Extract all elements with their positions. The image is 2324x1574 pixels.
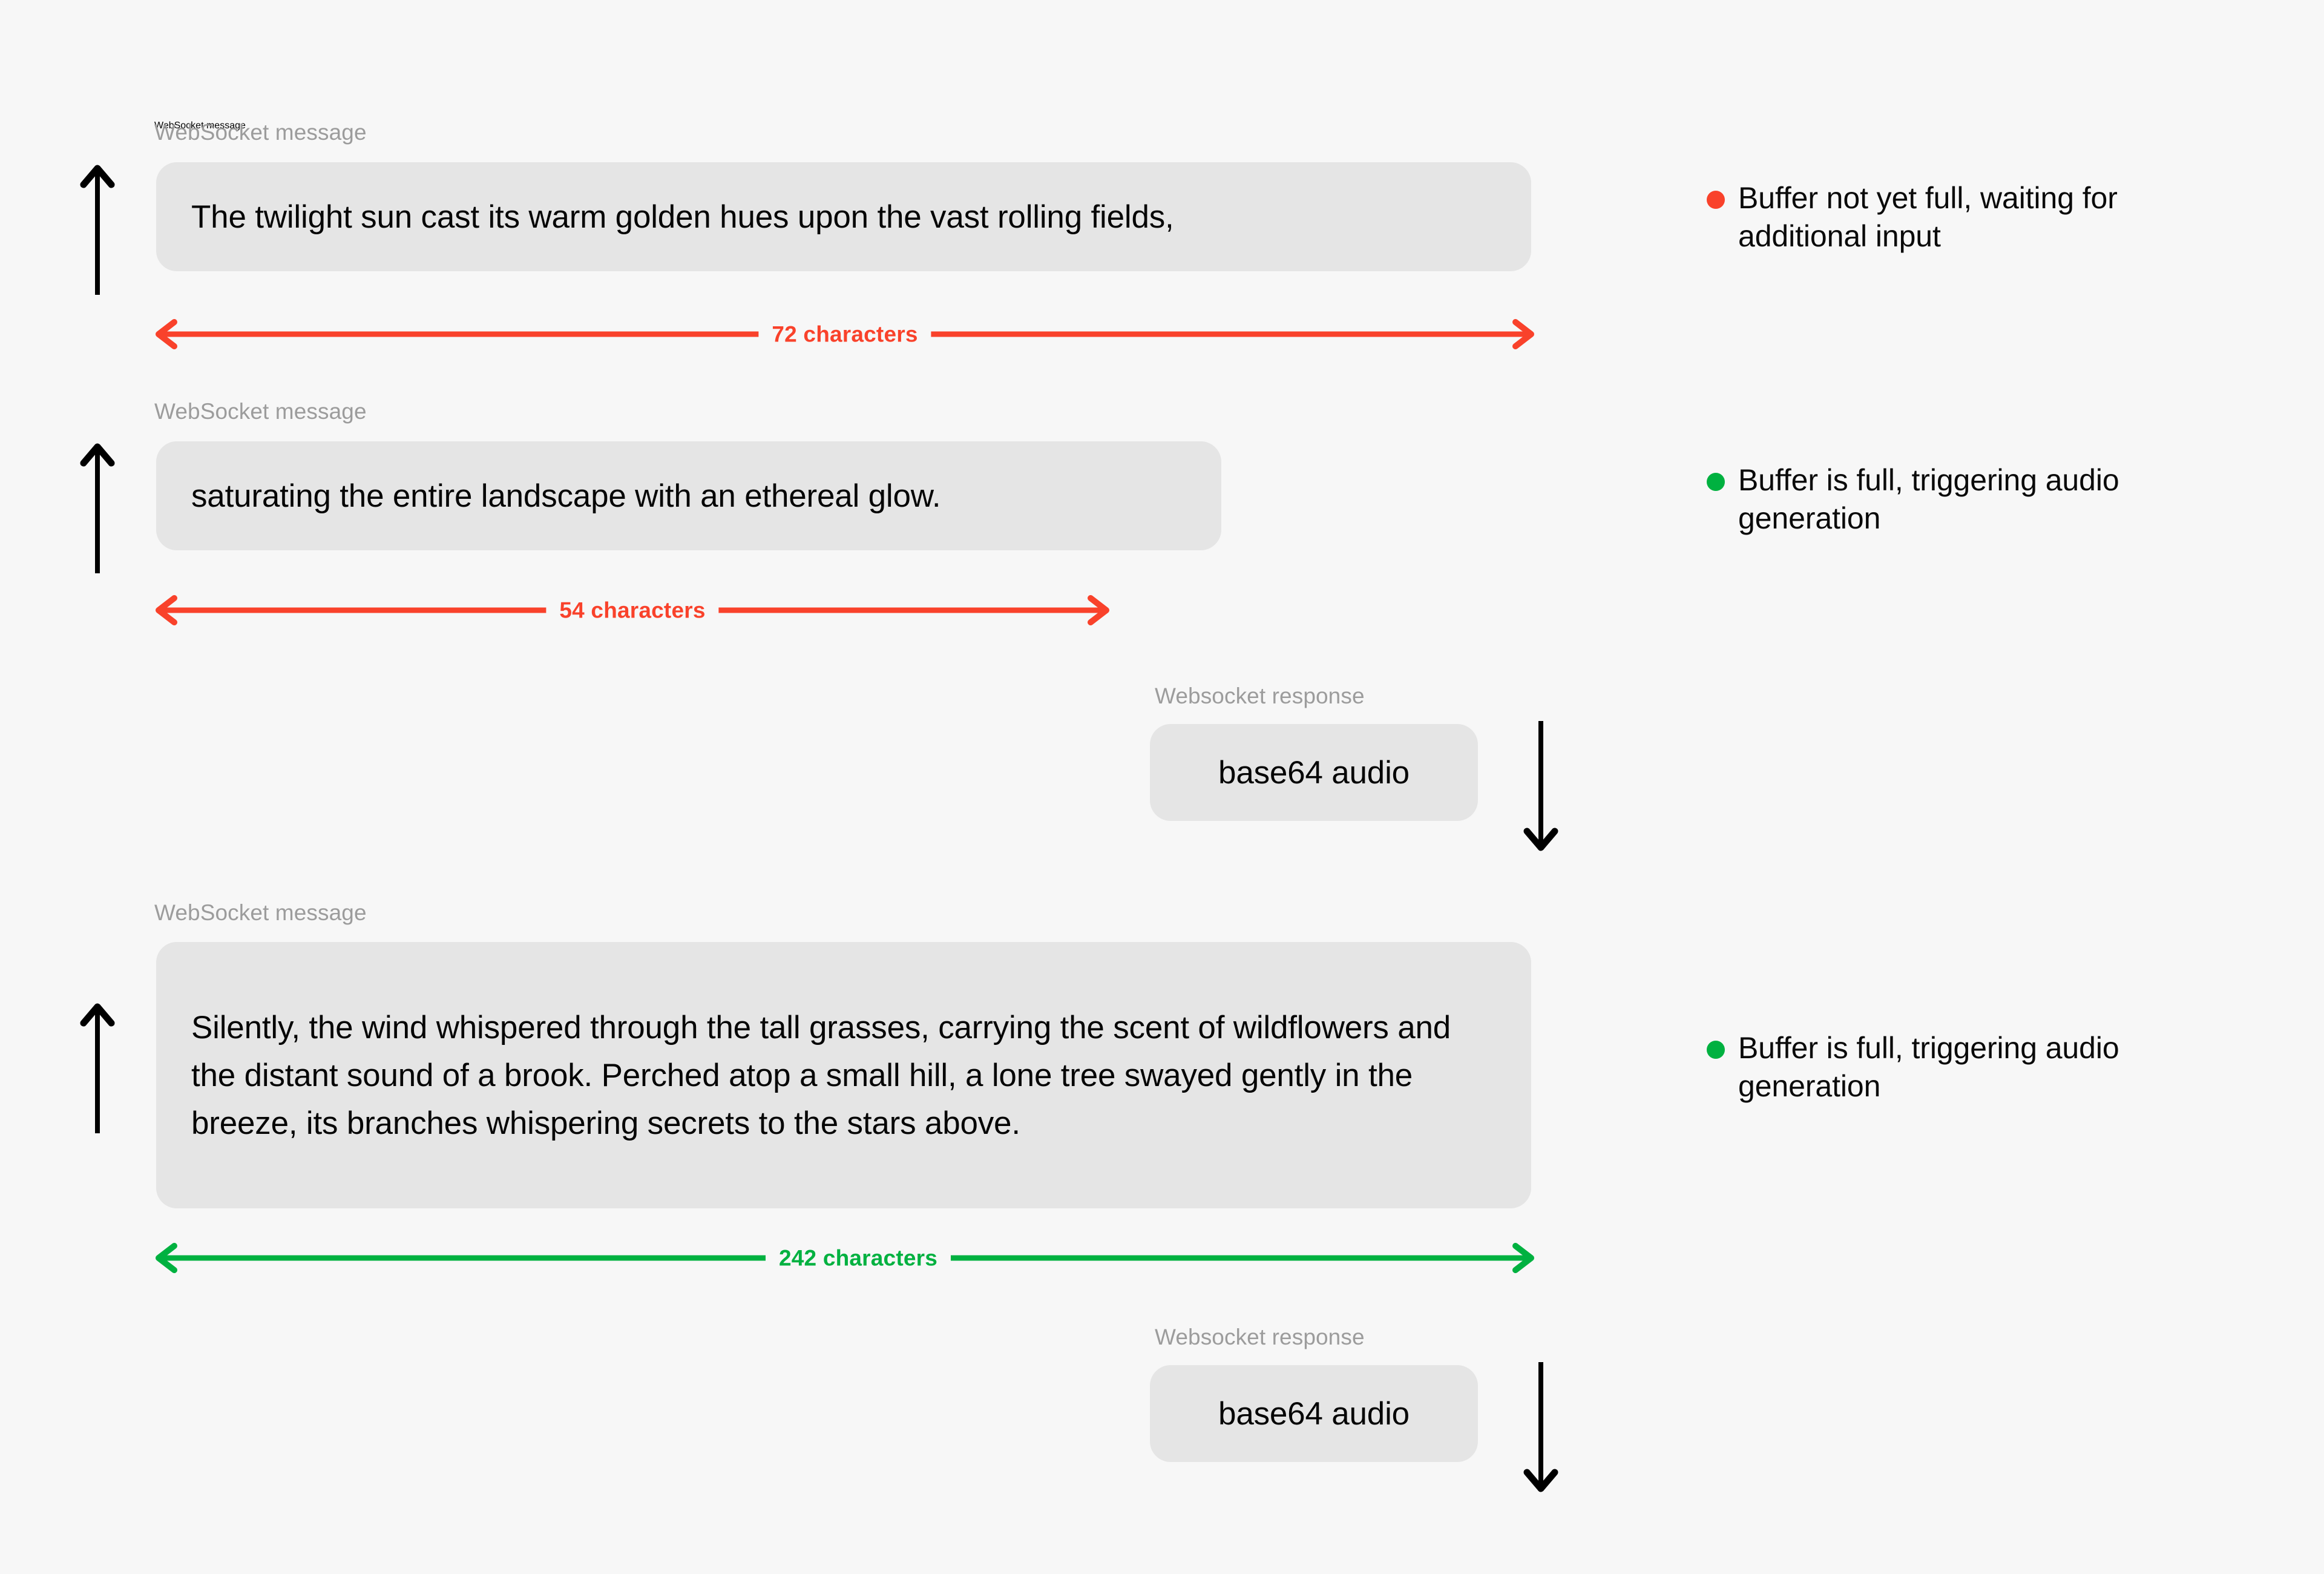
message-bubble-1: The twilight sun cast its warm golden hu… — [156, 162, 1531, 271]
response-text-2: base64 audio — [1218, 1390, 1410, 1438]
caption-websocket-message-3: WebSocket message — [154, 901, 367, 926]
arrow-up-icon-2 — [79, 439, 116, 575]
response-bubble-2: base64 audio — [1150, 1365, 1478, 1462]
response-text-1: base64 audio — [1218, 749, 1410, 797]
message-text-1: The twilight sun cast its warm golden hu… — [191, 193, 1174, 241]
message-bubble-3: Silently, the wind whispered through the… — [156, 942, 1531, 1208]
arrow-up-icon-3 — [79, 999, 116, 1135]
response-bubble-1: base64 audio — [1150, 724, 1478, 821]
caption-websocket-message-1: WebSocket message — [154, 120, 367, 145]
arrow-up-icon-1 — [79, 160, 116, 297]
diagram-canvas: WebSocket message WebSocket message The … — [0, 0, 2324, 1574]
measure-label-2: 54 characters — [546, 599, 718, 622]
arrow-down-icon-1 — [1522, 719, 1560, 855]
status-text-2: Buffer is full, triggering audio generat… — [1738, 461, 2227, 538]
message-text-2: saturating the entire landscape with an … — [191, 472, 940, 520]
arrow-down-icon-2 — [1522, 1360, 1560, 1497]
status-dot-green-icon-1 — [1707, 473, 1725, 491]
status-annotation-3: Buffer is full, triggering audio generat… — [1707, 1029, 2227, 1105]
caption-websocket-response-2: Websocket response — [1155, 1325, 1365, 1350]
measure-label-1: 72 characters — [758, 323, 931, 346]
caption-websocket-message-2: WebSocket message — [154, 400, 367, 424]
message-bubble-2: saturating the entire landscape with an … — [156, 441, 1221, 550]
caption-websocket-response-1: Websocket response — [1155, 684, 1365, 709]
measure-label-3: 242 characters — [766, 1247, 951, 1269]
status-annotation-2: Buffer is full, triggering audio generat… — [1707, 461, 2227, 538]
status-dot-green-icon-2 — [1707, 1041, 1725, 1059]
status-annotation-1: Buffer not yet full, waiting for additio… — [1707, 179, 2227, 255]
status-text-1: Buffer not yet full, waiting for additio… — [1738, 179, 2227, 255]
message-text-3: Silently, the wind whispered through the… — [191, 1004, 1496, 1147]
status-dot-red-icon — [1707, 191, 1725, 209]
status-text-3: Buffer is full, triggering audio generat… — [1738, 1029, 2227, 1105]
